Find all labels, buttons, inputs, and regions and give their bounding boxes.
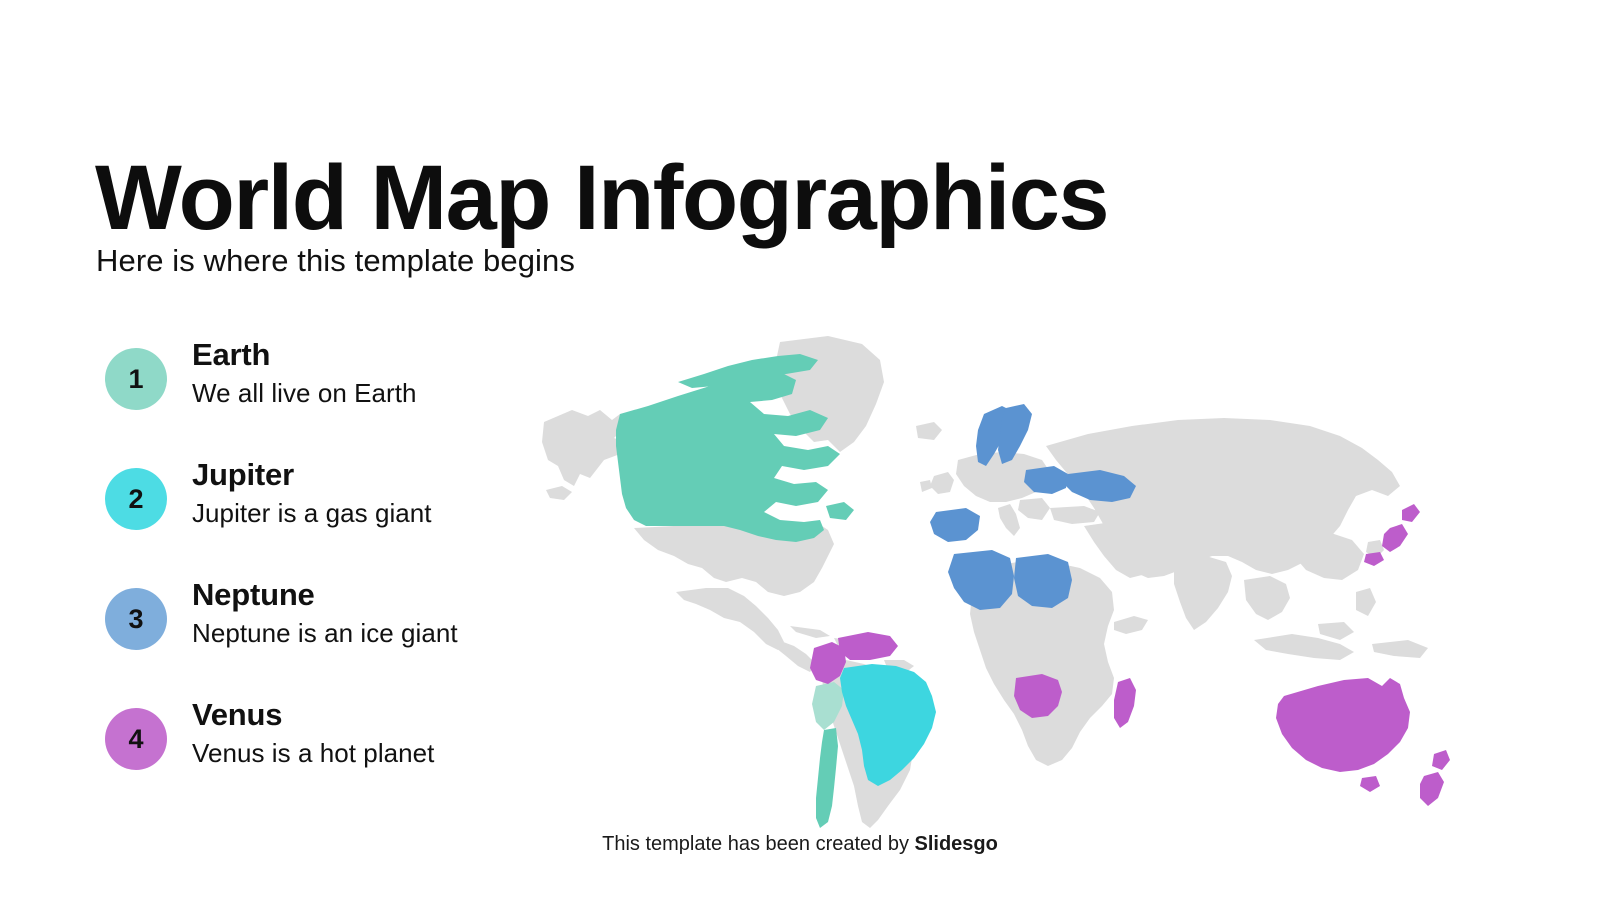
highlight-algeria bbox=[948, 550, 1014, 610]
region-turkey bbox=[1050, 506, 1100, 524]
legend-title-3: Neptune bbox=[192, 578, 458, 613]
highlight-australia bbox=[1276, 678, 1410, 772]
legend-item-earth[interactable]: 1 Earth We all live on Earth bbox=[105, 330, 575, 450]
slide-canvas: World Map Infographics Here is where thi… bbox=[0, 0, 1600, 900]
legend-text-4: Venus Venus is a hot planet bbox=[192, 698, 434, 769]
legend-badge-3: 3 bbox=[105, 588, 167, 650]
legend-title-2: Jupiter bbox=[192, 458, 432, 493]
legend-item-jupiter[interactable]: 2 Jupiter Jupiter is a gas giant bbox=[105, 450, 575, 570]
page-subtitle: Here is where this template begins bbox=[96, 243, 575, 279]
map-highlights bbox=[616, 354, 1450, 828]
region-new-guinea bbox=[1372, 640, 1428, 658]
footer-prefix: This template has been created by bbox=[602, 833, 914, 855]
region-alaska bbox=[542, 410, 624, 486]
legend-desc-4: Venus is a hot planet bbox=[192, 737, 434, 770]
region-balkans bbox=[1018, 498, 1050, 520]
highlight-spain bbox=[930, 508, 980, 542]
region-india bbox=[1174, 556, 1232, 630]
legend-text-3: Neptune Neptune is an ice giant bbox=[192, 578, 458, 649]
footer-credit: This template has been created by Slides… bbox=[0, 833, 1600, 856]
legend-desc-3: Neptune is an ice giant bbox=[192, 617, 458, 650]
legend-title-1: Earth bbox=[192, 338, 417, 373]
highlight-canada-newfoundland bbox=[826, 502, 854, 520]
legend-badge-2: 2 bbox=[105, 468, 167, 530]
legend-item-neptune[interactable]: 3 Neptune Neptune is an ice giant bbox=[105, 570, 575, 690]
legend-text-2: Jupiter Jupiter is a gas giant bbox=[192, 458, 432, 529]
world-map-svg bbox=[528, 330, 1488, 830]
legend-badge-1: 1 bbox=[105, 348, 167, 410]
region-italy bbox=[998, 504, 1020, 536]
highlight-new-zealand bbox=[1420, 750, 1450, 806]
region-mexico bbox=[676, 588, 784, 650]
region-aleutians bbox=[546, 486, 572, 500]
page-title: World Map Infographics bbox=[95, 152, 1108, 244]
region-uk bbox=[930, 472, 954, 494]
region-china-east bbox=[1290, 532, 1364, 580]
region-ireland bbox=[920, 480, 932, 492]
region-cuba bbox=[790, 626, 830, 638]
world-map bbox=[528, 330, 1488, 830]
region-borneo bbox=[1318, 622, 1354, 640]
legend-title-4: Venus bbox=[192, 698, 434, 733]
legend-badge-4: 4 bbox=[105, 708, 167, 770]
region-iceland bbox=[916, 422, 942, 440]
highlight-chile bbox=[816, 728, 838, 828]
legend-item-venus[interactable]: 4 Venus Venus is a hot planet bbox=[105, 690, 575, 810]
legend-desc-2: Jupiter is a gas giant bbox=[192, 497, 432, 530]
footer-brand: Slidesgo bbox=[915, 833, 998, 855]
highlight-tasmania bbox=[1360, 776, 1380, 792]
highlight-japan bbox=[1364, 504, 1420, 566]
legend-text-1: Earth We all live on Earth bbox=[192, 338, 417, 409]
region-central-america bbox=[776, 640, 816, 672]
highlight-venezuela bbox=[838, 632, 898, 660]
legend-list: 1 Earth We all live on Earth 2 Jupiter J… bbox=[105, 330, 575, 810]
highlight-madagascar bbox=[1114, 678, 1136, 728]
region-horn-of-africa bbox=[1114, 616, 1148, 634]
region-philippines bbox=[1356, 588, 1376, 616]
region-southeast-asia bbox=[1244, 576, 1290, 620]
legend-desc-1: We all live on Earth bbox=[192, 377, 417, 410]
